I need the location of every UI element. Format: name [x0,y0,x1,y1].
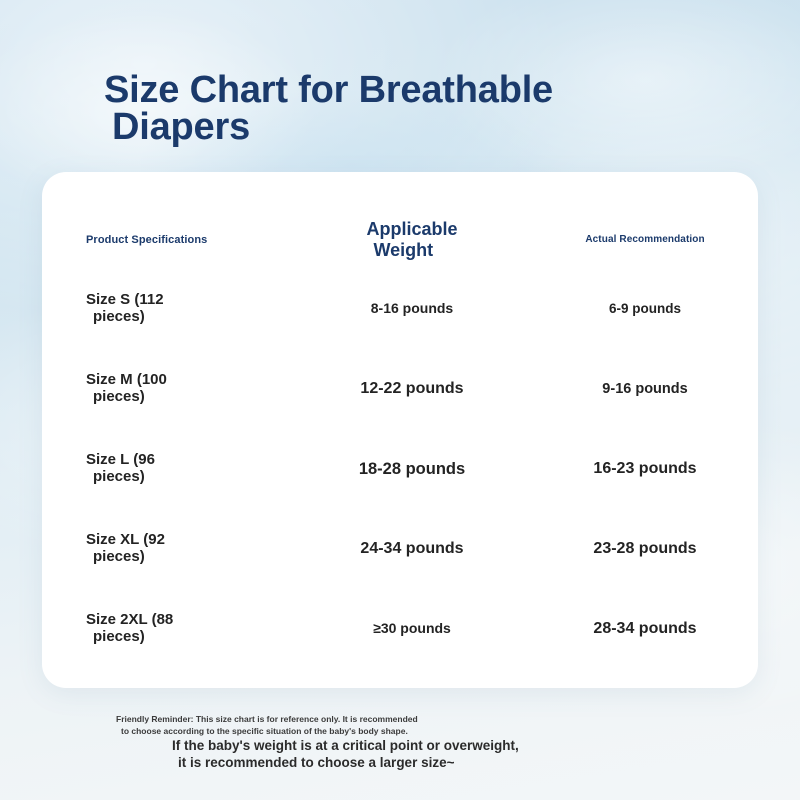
table-row: Size S (112pieces) 8-16 pounds 6-9 pound… [42,280,758,338]
size-chart-poster: Size Chart for BreathableDiapers Product… [0,0,800,800]
product-specification-text: Size S (112pieces) [86,292,164,326]
product-specification-text: Size 2XL (88pieces) [86,612,173,646]
cell-product-specification: Size S (112pieces) [42,280,292,338]
table-row: Size XL (92pieces) 24-34 pounds 23-28 po… [42,520,758,578]
column-header-applicable-weight-label: ApplicableWeight [366,219,457,260]
spec-line-1: Size M (100 [86,371,167,388]
cell-actual-recommendation: 9-16 pounds [532,360,758,418]
cell-product-specification: Size XL (92pieces) [42,520,292,578]
spec-line-2: pieces) [86,549,165,566]
product-specification-text: Size M (100pieces) [86,372,167,406]
column-header-actual-recommendation-label: Actual Recommendation [585,234,704,245]
cell-applicable-weight: ≥30 pounds [292,600,532,658]
friendly-reminder-line-2: to choose according to the specific situ… [116,725,536,737]
applicable-weight-line-1: Applicable [366,219,457,239]
cell-product-specification: Size M (100pieces) [42,360,292,418]
applicable-weight-value: 8-16 pounds [371,301,453,317]
spec-line-2: pieces) [86,309,164,326]
spec-line-1: Size S (112 [86,291,164,308]
sizing-advice-line-1: If the baby's weight is at a critical po… [172,738,519,753]
spec-line-1: Size L (96 [86,451,155,468]
spec-line-2: pieces) [86,389,167,406]
actual-recommendation-value: 6-9 pounds [609,301,681,316]
applicable-weight-value: 24-34 pounds [360,540,463,558]
applicable-weight-value: 12-22 pounds [360,380,463,398]
product-specification-text: Size XL (92pieces) [86,532,165,566]
page-title-line-1: Size Chart for Breathable [104,69,553,111]
product-specification-text: Size L (96pieces) [86,452,155,486]
table-row: Size 2XL (88pieces) ≥30 pounds 28-34 pou… [42,600,758,658]
cell-applicable-weight: 18-28 pounds [292,440,532,498]
page-title-line-2: Diapers [104,109,704,146]
spec-line-2: pieces) [86,629,173,646]
actual-recommendation-value: 9-16 pounds [602,381,687,397]
sizing-advice-line-2: it is recommended to choose a larger siz… [172,755,692,772]
spec-line-2: pieces) [86,469,155,486]
spec-line-1: Size 2XL (88 [86,611,173,628]
size-chart-card: Product Specifications ApplicableWeight … [42,172,758,688]
spec-line-1: Size XL (92 [86,531,165,548]
cell-applicable-weight: 12-22 pounds [292,360,532,418]
applicable-weight-line-2: Weight [366,240,457,261]
column-header-actual-recommendation: Actual Recommendation [532,212,758,268]
table-header-row: Product Specifications ApplicableWeight … [42,212,758,268]
column-header-product-specifications-label: Product Specifications [86,234,207,246]
cell-product-specification: Size L (96pieces) [42,440,292,498]
page-title: Size Chart for BreathableDiapers [104,72,704,146]
table-row: Size M (100pieces) 12-22 pounds 9-16 pou… [42,360,758,418]
cell-applicable-weight: 8-16 pounds [292,280,532,338]
table-row: Size L (96pieces) 18-28 pounds 16-23 pou… [42,440,758,498]
applicable-weight-value: 18-28 pounds [359,460,465,478]
applicable-weight-value: ≥30 pounds [373,621,451,637]
actual-recommendation-value: 23-28 pounds [593,540,696,558]
friendly-reminder-line-1: Friendly Reminder: This size chart is fo… [116,714,418,724]
friendly-reminder-note: Friendly Reminder: This size chart is fo… [116,713,536,738]
cell-applicable-weight: 24-34 pounds [292,520,532,578]
cell-actual-recommendation: 16-23 pounds [532,440,758,498]
actual-recommendation-value: 16-23 pounds [593,460,696,478]
column-header-product-specifications: Product Specifications [42,212,292,268]
size-chart-table: Product Specifications ApplicableWeight … [42,172,758,688]
cell-product-specification: Size 2XL (88pieces) [42,600,292,658]
actual-recommendation-value: 28-34 pounds [593,620,696,638]
cell-actual-recommendation: 23-28 pounds [532,520,758,578]
column-header-applicable-weight: ApplicableWeight [292,212,532,268]
sizing-advice-note: If the baby's weight is at a critical po… [172,738,692,772]
cell-actual-recommendation: 28-34 pounds [532,600,758,658]
cell-actual-recommendation: 6-9 pounds [532,280,758,338]
